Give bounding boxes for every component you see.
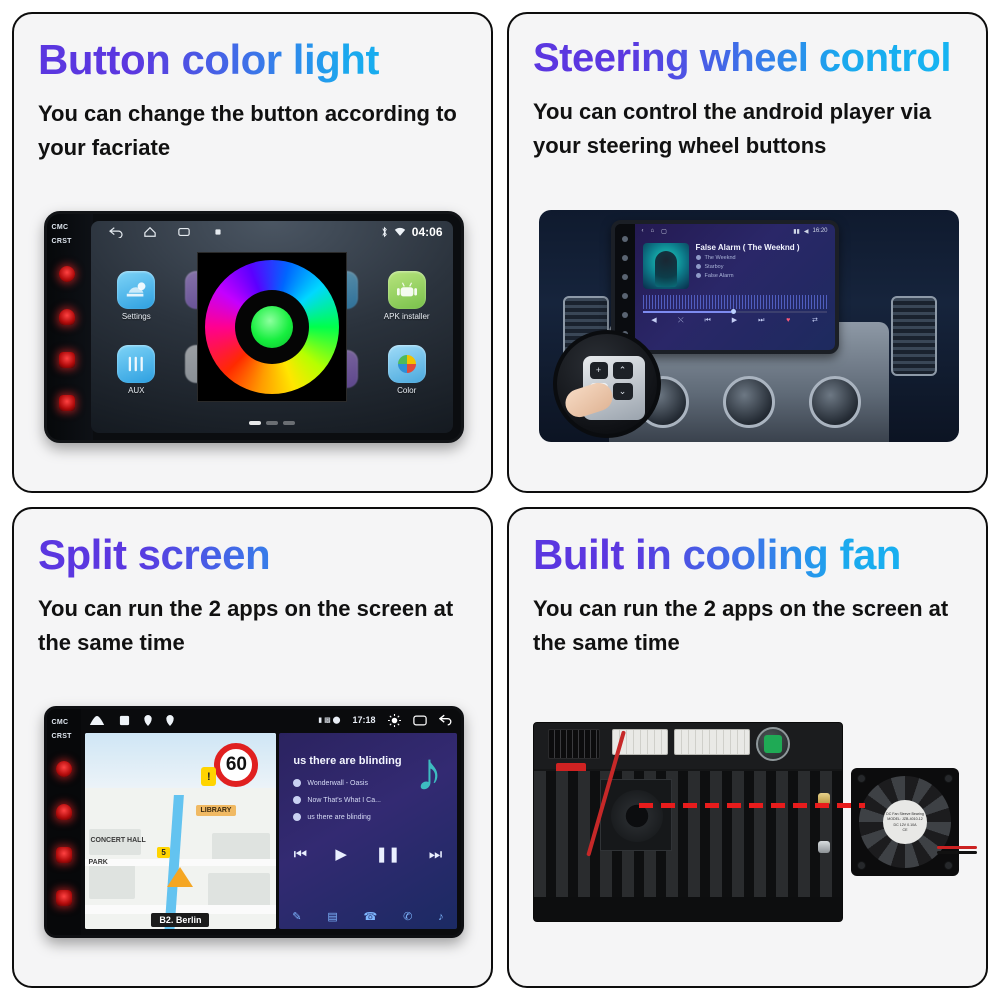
now-playing-title: us there are blinding bbox=[293, 755, 401, 767]
progress-bar[interactable] bbox=[643, 311, 827, 313]
recents-icon[interactable] bbox=[177, 226, 191, 238]
exit-number: 5 bbox=[157, 847, 169, 858]
pause-icon[interactable]: ❚❚ bbox=[375, 845, 400, 863]
head-unit-device: CMC CRST bbox=[44, 211, 464, 443]
playlist-rows: Wonderwall - Oasis Now That's What I Ca.… bbox=[293, 779, 381, 821]
volume-up-icon[interactable] bbox=[56, 890, 72, 906]
home-icon[interactable] bbox=[622, 255, 628, 261]
favorite-icon[interactable]: ♥ bbox=[784, 317, 792, 325]
navigation-arrow-icon bbox=[167, 867, 193, 887]
album-icon bbox=[293, 796, 301, 804]
status-bar: ‹ ⌂ ▢ ▮▮ ◀ 16:20 bbox=[635, 224, 835, 239]
cooling-fan-illustration: DC Fan Sleeve Bearing MODEL: JZB-4010-12… bbox=[533, 707, 964, 937]
status-right: ▮▮ ◀ 16:20 bbox=[793, 228, 827, 235]
head-unit-device: CMC CRST ▮ ▩ ⬤ 17:18 bbox=[44, 706, 464, 938]
apps-icon[interactable] bbox=[211, 226, 225, 238]
home-icon[interactable] bbox=[56, 804, 72, 820]
bluetooth-icon bbox=[381, 226, 388, 238]
list-item[interactable]: Wonderwall - Oasis bbox=[293, 779, 381, 787]
panel-subtitle: You can run the 2 apps on the screen at … bbox=[38, 592, 469, 660]
transport-controls: ◀ ⤬ ⏮ ▶ ⏭ ♥ ⇄ bbox=[635, 315, 835, 325]
artist-icon bbox=[696, 255, 701, 260]
poi-concert-hall: CONCERT HALL bbox=[91, 837, 146, 844]
back-panel-base bbox=[534, 897, 842, 921]
color-wheel-dialog[interactable] bbox=[197, 252, 347, 402]
air-vent-right bbox=[891, 296, 937, 376]
transport-controls: ⏮ ▶ ❚❚ ⏭ bbox=[279, 845, 456, 863]
album-art bbox=[643, 243, 689, 289]
power-icon[interactable] bbox=[622, 236, 628, 242]
list-item-label: Now That's What I Ca... bbox=[307, 797, 381, 804]
app-apk-installer[interactable]: APK installer bbox=[373, 259, 441, 333]
now-playing: False Alarm ( The Weeknd ) The Weeknd St… bbox=[635, 239, 835, 293]
home-icon[interactable] bbox=[59, 309, 75, 325]
volume-down-icon[interactable] bbox=[59, 352, 75, 368]
panel-image: ‹ ⌂ ▢ ▮▮ ◀ 16:20 False bbox=[533, 177, 964, 475]
apps-icon[interactable] bbox=[119, 715, 130, 726]
track-meta-row: The Weeknd bbox=[696, 255, 827, 261]
steering-wheel: + ⌃ ⌄ bbox=[553, 330, 661, 438]
status-bar: ▮ ▩ ⬤ 17:18 bbox=[81, 709, 461, 731]
app-label: Color bbox=[397, 386, 416, 395]
track-meta-row: False Alarm bbox=[696, 273, 827, 279]
clock: 16:20 bbox=[812, 228, 827, 235]
app-settings[interactable]: Settings bbox=[103, 259, 171, 333]
status-right: 04:06 bbox=[381, 225, 443, 239]
brand-label-top: CMC bbox=[52, 719, 69, 726]
edit-icon[interactable]: ✎ bbox=[292, 910, 301, 923]
fan-screw bbox=[857, 861, 866, 870]
page-dot[interactable] bbox=[283, 421, 295, 425]
android-icon bbox=[388, 271, 426, 309]
menu-icon[interactable] bbox=[622, 312, 628, 318]
panel-title: Button color light bbox=[38, 36, 469, 83]
list-item[interactable]: us there are blinding bbox=[293, 813, 381, 821]
aux-icon bbox=[117, 345, 155, 383]
poi-park: PARK bbox=[89, 859, 108, 866]
panel-image: DC Fan Sleeve Bearing MODEL: JZB-4010-12… bbox=[533, 674, 964, 970]
volume-icon[interactable]: ◀ bbox=[650, 317, 658, 325]
head-unit-device: ‹ ⌂ ▢ ▮▮ ◀ 16:20 False bbox=[611, 220, 839, 354]
play-icon[interactable]: ▶ bbox=[335, 845, 347, 863]
device-screen: 04:06 ⌄ Settings T bbox=[91, 221, 453, 433]
panel-title: Built in cooling fan bbox=[533, 531, 964, 578]
home-icon[interactable]: ⌂ bbox=[651, 228, 655, 234]
album-name: Starboy bbox=[705, 264, 724, 270]
home-icon[interactable] bbox=[143, 226, 157, 238]
panel-built-in-cooling-fan: Built in cooling fan You can run the 2 a… bbox=[507, 507, 988, 988]
album-icon bbox=[696, 264, 701, 269]
car-dashboard: ‹ ⌂ ▢ ▮▮ ◀ 16:20 False bbox=[539, 210, 959, 442]
fan-label-line: DC 12V 0.10A bbox=[894, 823, 917, 827]
brand-label-bottom: CRST bbox=[52, 733, 72, 740]
repeat-icon[interactable]: ⇄ bbox=[811, 317, 819, 325]
app-label: APK installer bbox=[384, 312, 430, 321]
waveform bbox=[643, 295, 827, 309]
play-icon[interactable]: ▶ bbox=[730, 317, 738, 325]
page-dot[interactable] bbox=[266, 421, 278, 425]
fan-wires bbox=[937, 846, 977, 856]
panel-image: CMC CRST ▮ ▩ ⬤ 17:18 bbox=[38, 674, 469, 970]
next-icon[interactable]: ⏭ bbox=[757, 317, 765, 325]
app-label: AUX bbox=[128, 386, 144, 395]
device-bezel: CMC CRST bbox=[47, 709, 81, 935]
status-right: ▮ ▩ ⬤ 17:18 bbox=[318, 714, 452, 727]
panel-title: Steering wheel control bbox=[533, 36, 964, 81]
home-icon[interactable] bbox=[89, 715, 105, 726]
warning-icon: ! bbox=[201, 767, 216, 786]
track-info: False Alarm ( The Weeknd ) The Weeknd St… bbox=[696, 243, 827, 289]
bottom-tabs: ✎ ▤ ☎ ✆ ♪ bbox=[279, 910, 456, 923]
panel-button-color-light: Button color light You can change the bu… bbox=[12, 12, 493, 493]
clock: 04:06 bbox=[412, 225, 443, 239]
feature-grid: Button color light You can change the bu… bbox=[0, 0, 1000, 1000]
panel-image: CMC CRST bbox=[38, 179, 469, 475]
navigation-app[interactable]: CONCERT HALL PARK LIBRARY 60 ! 5 B2. Ber… bbox=[85, 733, 277, 929]
page-dot[interactable] bbox=[249, 421, 261, 425]
panel-split-screen: Split screen You can run the 2 apps on t… bbox=[12, 507, 493, 988]
artist-name: The Weeknd bbox=[705, 255, 736, 261]
fan-label-line: DC Fan Sleeve Bearing bbox=[886, 812, 924, 816]
fan-closeup: DC Fan Sleeve Bearing MODEL: JZB-4010-12… bbox=[851, 768, 959, 876]
signal-icon: ▮▮ bbox=[793, 228, 800, 235]
callout-dashed-line bbox=[639, 803, 865, 808]
ce-mark: CE bbox=[903, 828, 908, 832]
page-indicator bbox=[249, 421, 295, 425]
brand-label-bottom: CRST bbox=[52, 238, 72, 245]
fan-label: DC Fan Sleeve Bearing MODEL: JZB-4010-12… bbox=[883, 800, 927, 844]
wifi-icon bbox=[394, 227, 406, 237]
phone-icon[interactable]: ✆ bbox=[403, 910, 412, 923]
track-title: False Alarm ( The Weeknd ) bbox=[696, 243, 827, 252]
settings-icon bbox=[117, 271, 155, 309]
fan-screw bbox=[944, 861, 953, 870]
panel-subtitle: You can control the android player via y… bbox=[533, 95, 964, 163]
panel-steering-wheel-control: Steering wheel control You can control t… bbox=[507, 12, 988, 493]
back-icon[interactable]: ‹ bbox=[642, 228, 644, 234]
climate-knob-right[interactable] bbox=[809, 376, 861, 428]
equalizer-icon[interactable]: ▤ bbox=[327, 910, 337, 923]
color-wheel-inner bbox=[235, 290, 309, 364]
recents-icon[interactable]: ▢ bbox=[661, 228, 667, 235]
mode-icon[interactable] bbox=[622, 274, 628, 280]
iso-connector bbox=[548, 729, 600, 759]
shuffle-icon[interactable]: ⤬ bbox=[677, 317, 685, 325]
song-icon bbox=[696, 273, 701, 278]
song-name: False Alarm bbox=[705, 273, 734, 279]
fan-screw bbox=[857, 774, 866, 783]
panel-title: Split screen bbox=[38, 531, 469, 578]
green-port bbox=[756, 727, 790, 761]
fan-label-line: MODEL: JZB-4010-12 bbox=[887, 817, 923, 821]
destination-label: B2. Berlin bbox=[151, 913, 209, 927]
device-screen: ‹ ⌂ ▢ ▮▮ ◀ 16:20 False bbox=[635, 224, 835, 350]
up-icon[interactable]: ⌃ bbox=[613, 362, 633, 379]
fan-screw bbox=[944, 774, 953, 783]
brand-label-top: CMC bbox=[52, 224, 69, 231]
selected-color-swatch[interactable] bbox=[251, 306, 293, 348]
internal-fan bbox=[600, 779, 672, 851]
panel-subtitle: You can change the button according to y… bbox=[38, 97, 469, 165]
artist-icon bbox=[293, 779, 301, 787]
head-unit-back-panel bbox=[533, 722, 843, 922]
list-item-label: Wonderwall - Oasis bbox=[307, 780, 368, 787]
volume-icon[interactable]: + bbox=[590, 362, 608, 379]
app-color[interactable]: Color bbox=[373, 333, 441, 407]
app-aux[interactable]: AUX bbox=[103, 333, 171, 407]
list-item[interactable]: Now That's What I Ca... bbox=[293, 796, 381, 804]
white-connector-2 bbox=[674, 729, 750, 755]
down-icon[interactable]: ⌄ bbox=[613, 383, 633, 400]
antenna-port-2 bbox=[818, 841, 830, 853]
climate-knob-center[interactable] bbox=[723, 376, 775, 428]
split-container: CONCERT HALL PARK LIBRARY 60 ! 5 B2. Ber… bbox=[85, 733, 457, 929]
back-icon[interactable] bbox=[109, 226, 123, 238]
signal-icons: ▮ ▩ ⬤ bbox=[318, 716, 340, 724]
previous-icon[interactable]: ⏮ bbox=[704, 317, 712, 325]
music-note-icon: ♪ bbox=[416, 745, 443, 799]
heatsink-fins bbox=[534, 771, 842, 899]
music-app[interactable]: ♪ us there are blinding Wonderwall - Oas… bbox=[279, 733, 456, 929]
volume-icon: ◀ bbox=[804, 228, 809, 235]
back-icon[interactable] bbox=[439, 714, 453, 726]
pin-icon[interactable] bbox=[144, 715, 152, 726]
list-item-label: us there are blinding bbox=[307, 814, 370, 821]
brightness-icon[interactable] bbox=[388, 714, 401, 727]
pin-icon[interactable] bbox=[166, 715, 174, 726]
volume-up-icon[interactable] bbox=[59, 395, 75, 411]
volume-down-icon[interactable] bbox=[56, 847, 72, 863]
song-icon bbox=[293, 813, 301, 821]
power-icon[interactable] bbox=[59, 266, 75, 282]
track-meta-row: Starboy bbox=[696, 264, 827, 270]
app-label: Settings bbox=[122, 312, 151, 321]
color-icon bbox=[388, 345, 426, 383]
recents-icon[interactable] bbox=[413, 715, 427, 726]
poi-library: LIBRARY bbox=[196, 805, 237, 816]
power-icon[interactable] bbox=[56, 761, 72, 777]
clock: 17:18 bbox=[352, 715, 375, 725]
mute-icon[interactable] bbox=[622, 293, 628, 299]
music-icon[interactable]: ♪ bbox=[438, 911, 444, 923]
color-wheel[interactable] bbox=[205, 260, 339, 394]
contacts-icon[interactable]: ☎ bbox=[364, 910, 378, 923]
next-icon[interactable]: ⏭ bbox=[429, 846, 443, 863]
panel-subtitle: You can run the 2 apps on the screen at … bbox=[533, 592, 964, 660]
status-bar: 04:06 bbox=[91, 221, 453, 243]
nav-icon-group bbox=[109, 226, 225, 238]
previous-icon[interactable]: ⏮ bbox=[294, 846, 308, 863]
device-bezel: CMC CRST bbox=[47, 214, 93, 440]
